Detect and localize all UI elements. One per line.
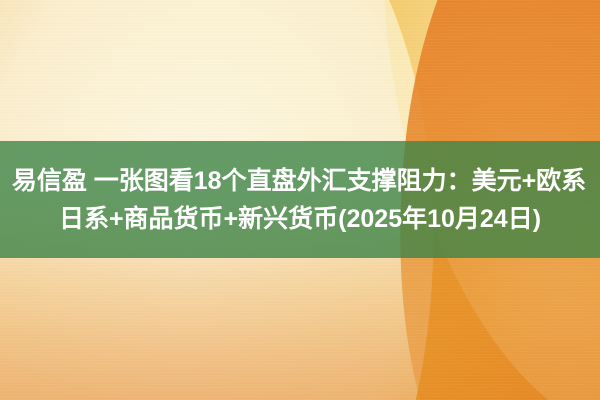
- video-thumbnail-card: 易信盈 一张图看18个直盘外汇支撑阻力：美元+欧系 日系+商品货币+新兴货币(2…: [0, 0, 600, 400]
- caption-line-2: 日系+商品货币+新兴货币(2025年10月24日): [0, 200, 600, 238]
- caption-line-1: 易信盈 一张图看18个直盘外汇支撑阻力：美元+欧系: [0, 162, 600, 200]
- caption-band: 易信盈 一张图看18个直盘外汇支撑阻力：美元+欧系 日系+商品货币+新兴货币(2…: [0, 141, 600, 258]
